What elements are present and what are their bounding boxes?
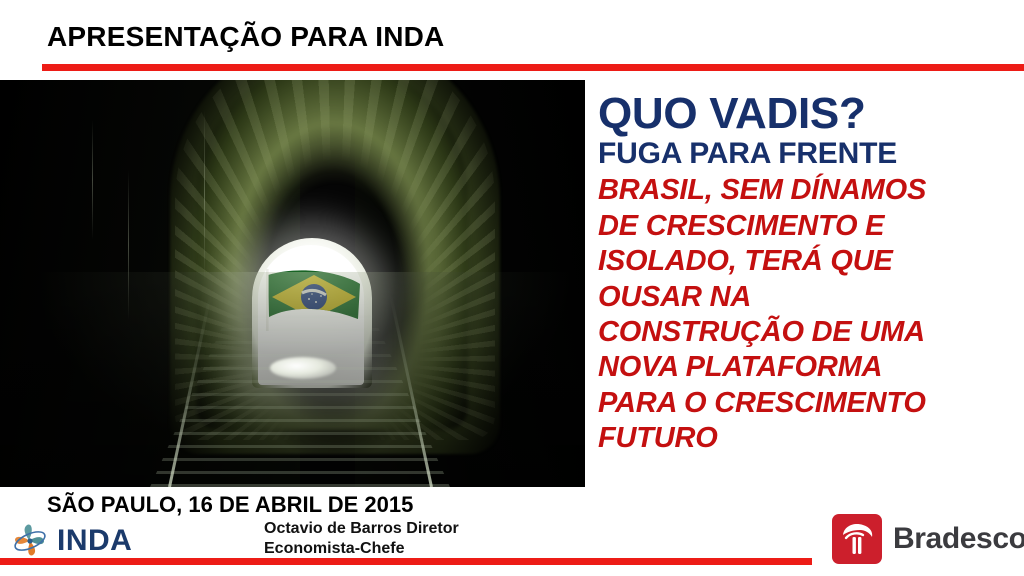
inda-logo: INDA xyxy=(10,522,132,560)
headline-body-line: NOVA PLATAFORMA xyxy=(598,350,1018,385)
headline-body: BRASIL, SEM DÍNAMOS DE CRESCIMENTO E ISO… xyxy=(598,173,1018,456)
wall-seepage-streak xyxy=(128,170,129,320)
author-name-line: Octavio de Barros Diretor xyxy=(264,519,459,539)
headline-subtitle: FUGA PARA FRENTE xyxy=(598,138,1018,170)
track-water-reflection xyxy=(270,357,336,379)
bradesco-tree-icon xyxy=(832,514,882,564)
title-divider-rule xyxy=(42,64,1024,71)
author-role-line: Economista-Chefe xyxy=(264,539,459,559)
headline-body-line: OUSAR NA xyxy=(598,280,1018,315)
headline-body-line: BRASIL, SEM DÍNAMOS xyxy=(598,173,1018,208)
footer-divider-rule xyxy=(0,558,812,565)
inda-pinwheel-icon xyxy=(10,522,52,560)
bradesco-mark-glyph xyxy=(832,514,882,564)
presentation-slide: APRESENTAÇÃO PARA INDA xyxy=(0,0,1024,576)
bradesco-wordmark: Bradesco xyxy=(893,524,1024,554)
slide-title: APRESENTAÇÃO PARA INDA xyxy=(47,21,444,53)
headline-block: QUO VADIS? FUGA PARA FRENTE BRASIL, SEM … xyxy=(598,92,1018,456)
wall-seepage-streak xyxy=(92,120,93,240)
wall-seepage-streak xyxy=(204,110,205,280)
headline-body-line: PARA O CRESCIMENTO xyxy=(598,386,1018,421)
headline-body-line: ISOLADO, TERÁ QUE xyxy=(598,244,1018,279)
inda-wordmark: INDA xyxy=(57,526,132,556)
bradesco-logo: Bradesco xyxy=(832,514,1024,564)
tunnel-photo xyxy=(0,80,585,487)
place-and-date: SÃO PAULO, 16 DE ABRIL DE 2015 xyxy=(47,492,413,518)
author-credit: Octavio de Barros Diretor Economista-Che… xyxy=(264,519,459,560)
headline-body-line: FUTURO xyxy=(598,421,1018,456)
headline-body-line: CONSTRUÇÃO DE UMA xyxy=(598,315,1018,350)
headline-body-line: DE CRESCIMENTO E xyxy=(598,209,1018,244)
headline-main: QUO VADIS? xyxy=(598,92,1018,137)
